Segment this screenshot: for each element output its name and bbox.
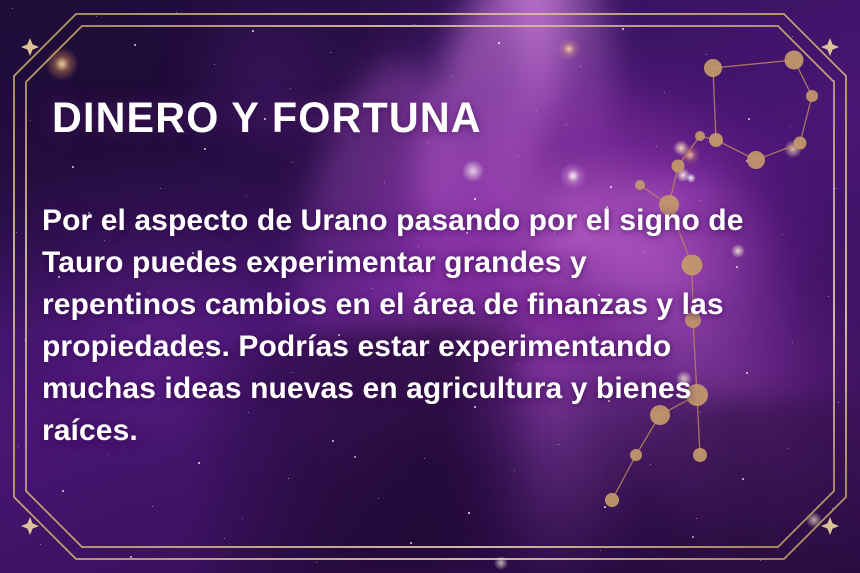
body-line: raíces. [42, 410, 842, 452]
body-line: Por el aspecto de Urano pasando por el s… [42, 200, 842, 242]
horoscope-card: DINERO Y FORTUNA Por el aspecto de Urano… [0, 0, 860, 573]
body-line: muchas ideas nuevas en agricultura y bie… [42, 368, 842, 410]
body-line: Tauro puedes experimentar grandes y [42, 242, 842, 284]
page-title: DINERO Y FORTUNA [52, 94, 482, 142]
body-line: repentinos cambios en el área de finanza… [42, 284, 842, 326]
body-line: propiedades. Podrías estar experimentand… [42, 326, 842, 368]
body-text: Por el aspecto de Urano pasando por el s… [42, 200, 842, 452]
